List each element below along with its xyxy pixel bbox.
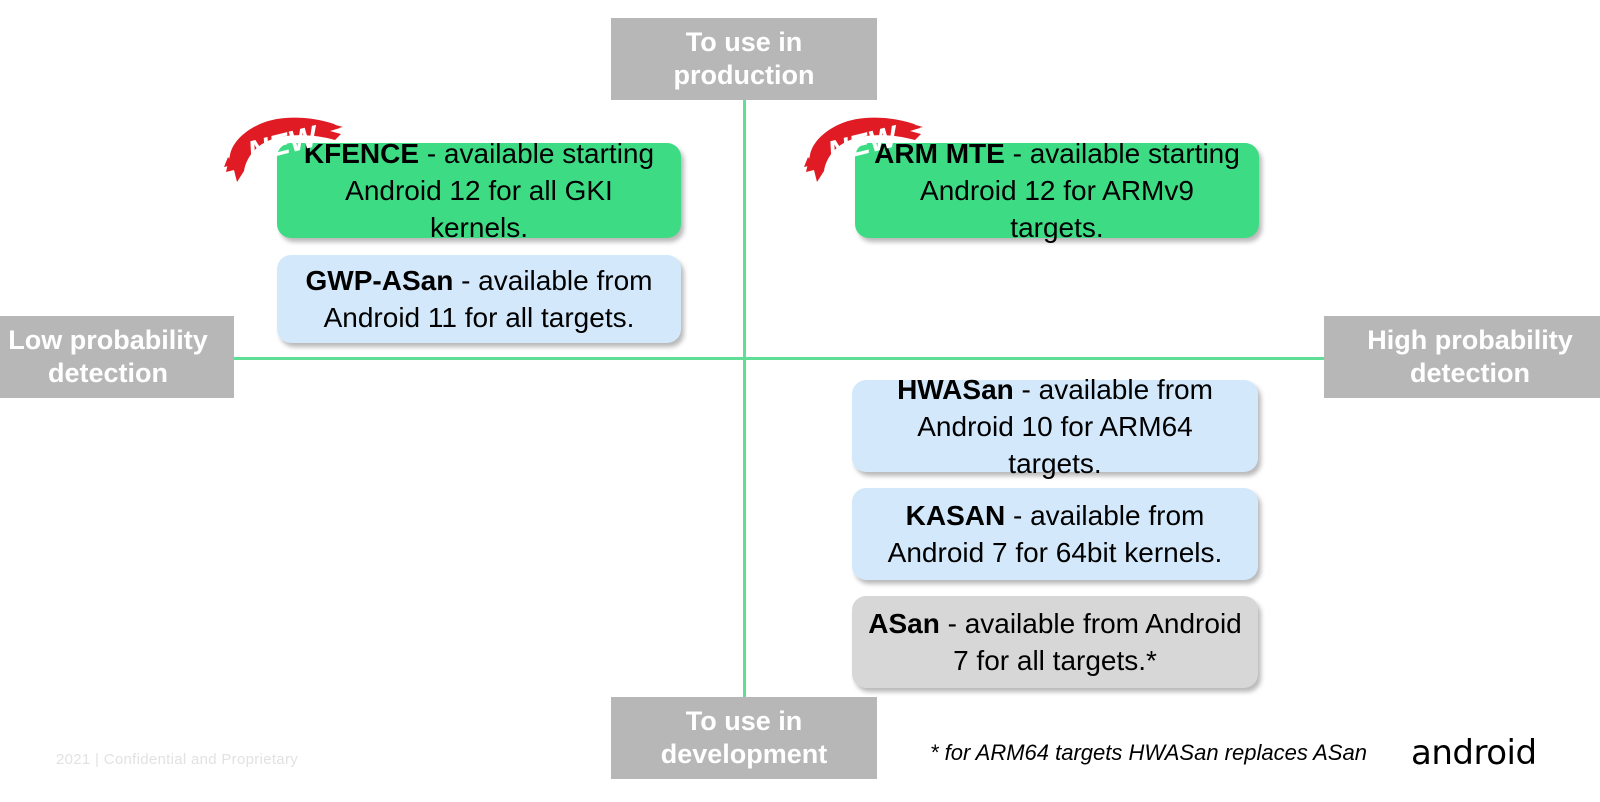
android-logo-text: android (1411, 733, 1537, 773)
slide-canvas: To use in production To use in developme… (0, 0, 1600, 802)
axis-label-production-line2: production (674, 60, 815, 90)
card-arm-mte: ARM MTE - available starting Android 12 … (855, 143, 1259, 238)
card-hwasan-name: HWASan (897, 374, 1014, 405)
footnote-text: * for ARM64 targets HWASan replaces ASan (930, 740, 1367, 766)
card-asan: ASan - available from Android 7 for all … (852, 596, 1258, 688)
card-asan-name: ASan (868, 608, 940, 639)
card-kasan: KASAN - available from Android 7 for 64b… (852, 488, 1258, 580)
vertical-axis-line (743, 100, 746, 700)
horizontal-axis-line (228, 357, 1336, 360)
axis-label-high-line1: High probability (1367, 325, 1573, 355)
card-arm-mte-name: ARM MTE (874, 138, 1005, 169)
card-kfence: KFENCE - available starting Android 12 f… (277, 143, 681, 238)
card-gwp-asan-name: GWP-ASan (306, 265, 454, 296)
axis-label-high-probability: High probability detection (1324, 316, 1600, 398)
card-asan-description: - available from Android 7 for all targe… (940, 608, 1242, 676)
axis-label-development: To use in development (611, 697, 877, 779)
axis-label-development-line2: development (661, 739, 828, 769)
axis-label-high-line2: detection (1410, 358, 1530, 388)
axis-label-production: To use in production (611, 18, 877, 100)
android-logo: android (1411, 733, 1561, 773)
card-hwasan: HWASan - available from Android 10 for A… (852, 380, 1258, 472)
axis-label-low-probability: Low probability detection (0, 316, 234, 398)
card-gwp-asan: GWP-ASan - available from Android 11 for… (277, 255, 681, 343)
footer-confidential-notice: 2021 | Confidential and Proprietary (56, 751, 298, 768)
card-kasan-name: KASAN (906, 500, 1006, 531)
axis-label-development-line1: To use in (686, 706, 803, 736)
axis-label-low-line2: detection (48, 358, 168, 388)
axis-label-production-line1: To use in (686, 27, 803, 57)
axis-label-low-line1: Low probability (8, 325, 208, 355)
card-kfence-name: KFENCE (304, 138, 419, 169)
